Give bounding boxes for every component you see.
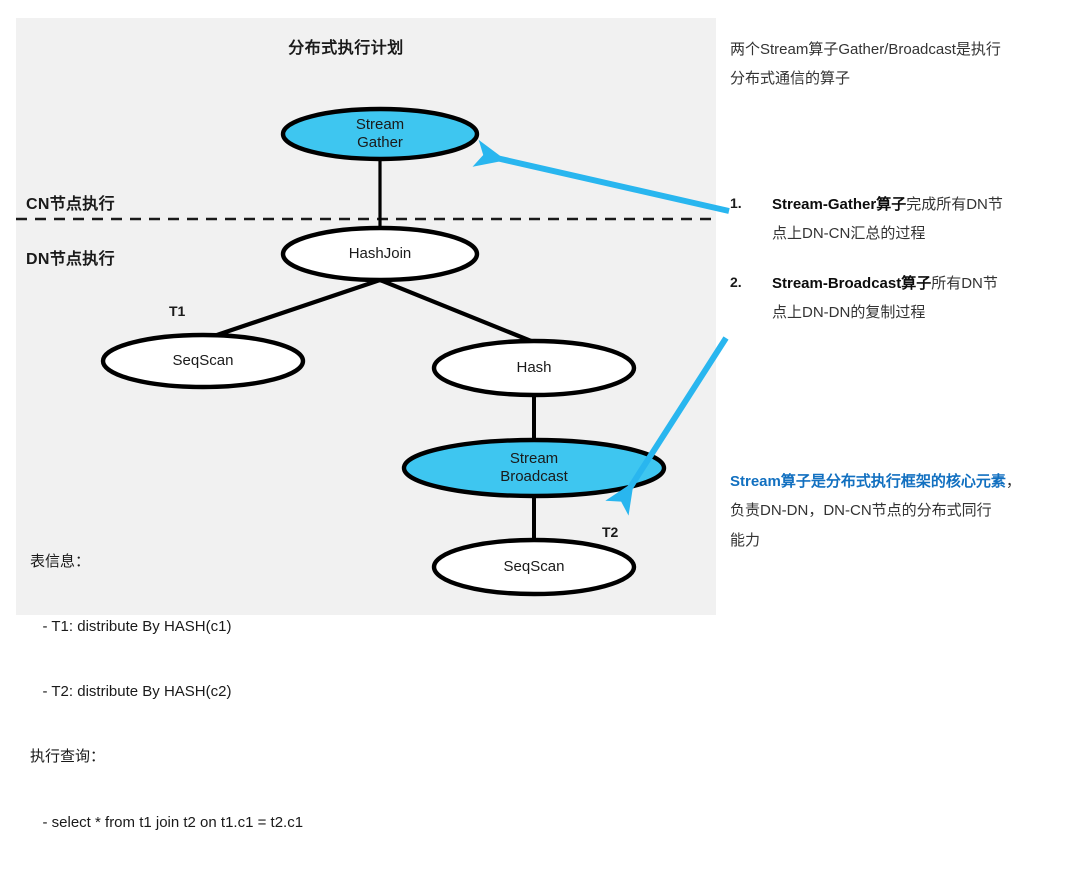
list-item: 2. Stream-Broadcast算子所有DN节 点上DN-DN的复制过程 bbox=[730, 269, 1070, 328]
distributed-plan-panel: 分布式执行计划 Stream Gather HashJoin SeqScan H… bbox=[16, 18, 716, 615]
note-footer-line-1: Stream算子是分布式执行框架的核心元素， bbox=[730, 467, 1060, 496]
edge-label-t2: T2 bbox=[602, 524, 618, 540]
note-intro-line-1: 两个Stream算子Gather/Broadcast是执行 bbox=[730, 35, 1060, 64]
edge-hashjoin-seqscan bbox=[208, 280, 380, 338]
zone-label-cn: CN节点执行 bbox=[26, 190, 115, 214]
note-body: Stream-Gather算子完成所有DN节 点上DN-CN汇总的过程 bbox=[772, 190, 1070, 249]
note-footer-line-3: 能力 bbox=[730, 526, 1060, 555]
zone-label-dn: DN节点执行 bbox=[26, 245, 115, 269]
info-query-line-1: - select * from t1 join t2 on t1.c1 = t2… bbox=[30, 812, 303, 834]
list-item: 1. Stream-Gather算子完成所有DN节 点上DN-CN汇总的过程 bbox=[730, 190, 1070, 249]
node-hashjoin bbox=[283, 228, 477, 280]
node-seqscan-bottom bbox=[434, 540, 634, 594]
node-stream-gather bbox=[283, 109, 477, 159]
note-term: Stream-Gather算子 bbox=[772, 196, 906, 213]
info-table-heading: 表信息： bbox=[30, 551, 303, 573]
node-stream-broadcast bbox=[404, 440, 664, 496]
table-and-query-info: 表信息： - T1: distribute By HASH(c1) - T2: … bbox=[30, 507, 303, 877]
note-rest-line-1: 所有DN节 bbox=[931, 275, 998, 292]
note-body: Stream-Broadcast算子所有DN节 点上DN-DN的复制过程 bbox=[772, 269, 1070, 328]
node-hash bbox=[434, 341, 634, 395]
node-seqscan-left bbox=[103, 335, 303, 387]
note-rest-line-1: 完成所有DN节 bbox=[906, 196, 1003, 213]
note-number: 1. bbox=[730, 190, 772, 249]
note-rest-line-2: 点上DN-DN的复制过程 bbox=[772, 304, 925, 321]
info-table-line-2: - T2: distribute By HASH(c2) bbox=[30, 681, 303, 703]
note-term: Stream-Broadcast算子 bbox=[772, 275, 931, 292]
note-rest-line-2: 点上DN-CN汇总的过程 bbox=[772, 225, 925, 242]
note-footer-highlight: Stream算子是分布式执行框架的核心元素 bbox=[730, 473, 1006, 490]
note-list: 1. Stream-Gather算子完成所有DN节 点上DN-CN汇总的过程 2… bbox=[730, 190, 1070, 347]
note-footer-line-1-tail: ， bbox=[1006, 473, 1021, 490]
note-intro: 两个Stream算子Gather/Broadcast是执行 分布式通信的算子 bbox=[730, 35, 1060, 94]
note-intro-line-2: 分布式通信的算子 bbox=[730, 64, 1060, 93]
info-table-line-1: - T1: distribute By HASH(c1) bbox=[30, 616, 303, 638]
info-query-heading: 执行查询： bbox=[30, 746, 303, 768]
note-footer: Stream算子是分布式执行框架的核心元素， 负责DN-DN，DN-CN节点的分… bbox=[730, 467, 1060, 555]
note-number: 2. bbox=[730, 269, 772, 328]
annotations-column: 两个Stream算子Gather/Broadcast是执行 分布式通信的算子 1… bbox=[730, 0, 1070, 618]
note-footer-line-2: 负责DN-DN，DN-CN节点的分布式同行 bbox=[730, 496, 1060, 525]
edge-label-t1: T1 bbox=[169, 303, 185, 319]
edge-hashjoin-hash bbox=[380, 280, 536, 343]
